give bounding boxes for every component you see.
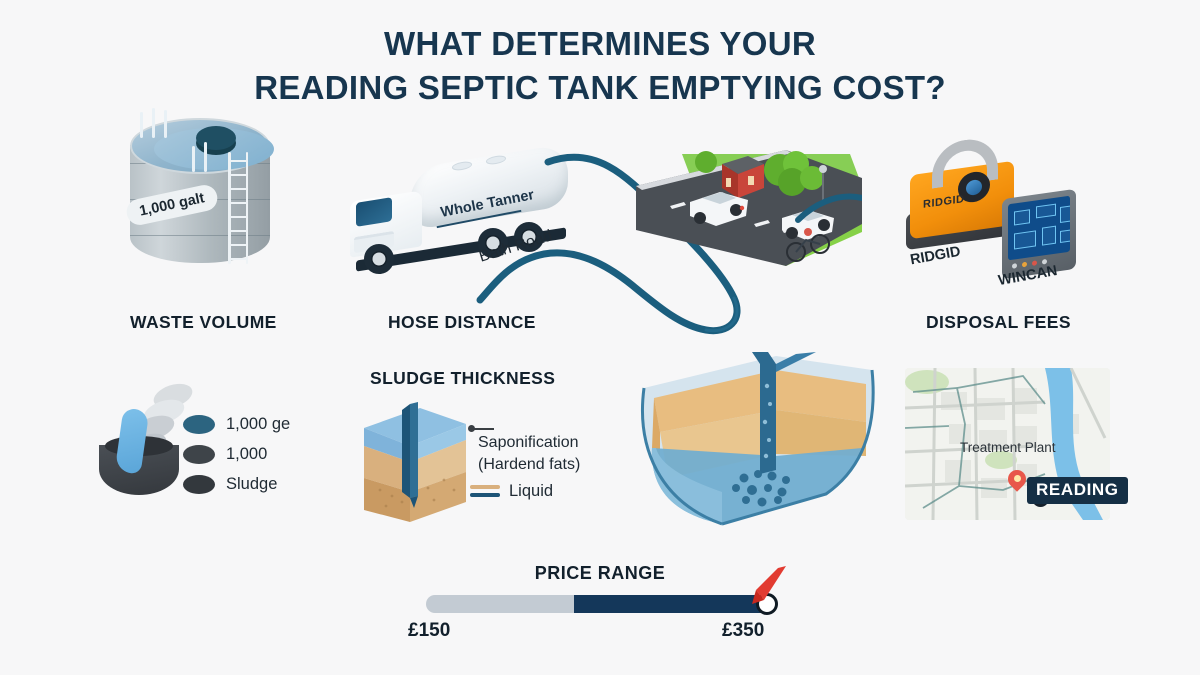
map-place-label: Treatment Plant <box>960 440 1056 455</box>
infographic-canvas: WHAT DETERMINES YOUR READING SEPTIC TANK… <box>0 0 1200 675</box>
sludge-layer-block <box>358 400 488 528</box>
liquid-swatch <box>470 485 500 498</box>
sludge-callout-text: Saponification (Hardend fats) <box>478 432 580 475</box>
waste-volume-tank-illustration: 1,000 galt <box>118 118 288 293</box>
legend-swatch <box>183 415 215 434</box>
liquid-label: Liquid <box>509 482 553 501</box>
sludge-sample-illustration: 1,000 ge 1,000 Sludge <box>95 383 310 513</box>
price-min-label: £150 <box>408 620 450 642</box>
wincan-screen <box>1008 196 1070 261</box>
caption-disposal-fees: DISPOSAL FEES <box>926 312 1071 333</box>
septic-basin-cutaway <box>626 352 896 542</box>
legend-label: 1,000 ge <box>226 415 290 434</box>
price-range-fill <box>574 595 774 613</box>
road-scene-illustration <box>636 120 862 300</box>
title-line-1: WHAT DETERMINES YOUR <box>0 22 1200 66</box>
callout-line-1: Saponification <box>478 432 580 454</box>
tank-hatch <box>196 126 236 150</box>
price-max-label: £350 <box>722 620 764 642</box>
price-range-slider[interactable] <box>426 595 774 613</box>
legend-label: 1,000 <box>226 445 267 464</box>
legend-item: 1,000 <box>183 445 267 464</box>
legend-item: Sludge <box>183 475 277 494</box>
map-location-pin <box>1008 470 1026 494</box>
sludge-legend-liquid: Liquid <box>470 482 553 501</box>
caption-waste-volume: WASTE VOLUME <box>130 312 277 333</box>
tank-ladder <box>226 152 250 264</box>
legend-swatch <box>183 475 215 494</box>
caption-sludge-thickness: SLUDGE THICKNESS <box>370 368 555 389</box>
title-line-2: READING SEPTIC TANK EMPTYING COST? <box>0 66 1200 110</box>
price-pointer-arrow <box>748 566 788 608</box>
callout-line-2: (Hardend fats) <box>478 454 580 476</box>
legend-swatch <box>183 445 215 464</box>
page-title: WHAT DETERMINES YOUR READING SEPTIC TANK… <box>0 22 1200 109</box>
legend-label: Sludge <box>226 475 277 494</box>
legend-item: 1,000 ge <box>183 415 290 434</box>
map-city-badge: READING <box>1027 477 1128 504</box>
sludge-callout-dot <box>468 425 475 432</box>
caption-price-range: PRICE RANGE <box>0 563 1200 584</box>
disposal-equipment-illustration: RIDGID RIDGID WINCAN <box>906 132 1076 302</box>
